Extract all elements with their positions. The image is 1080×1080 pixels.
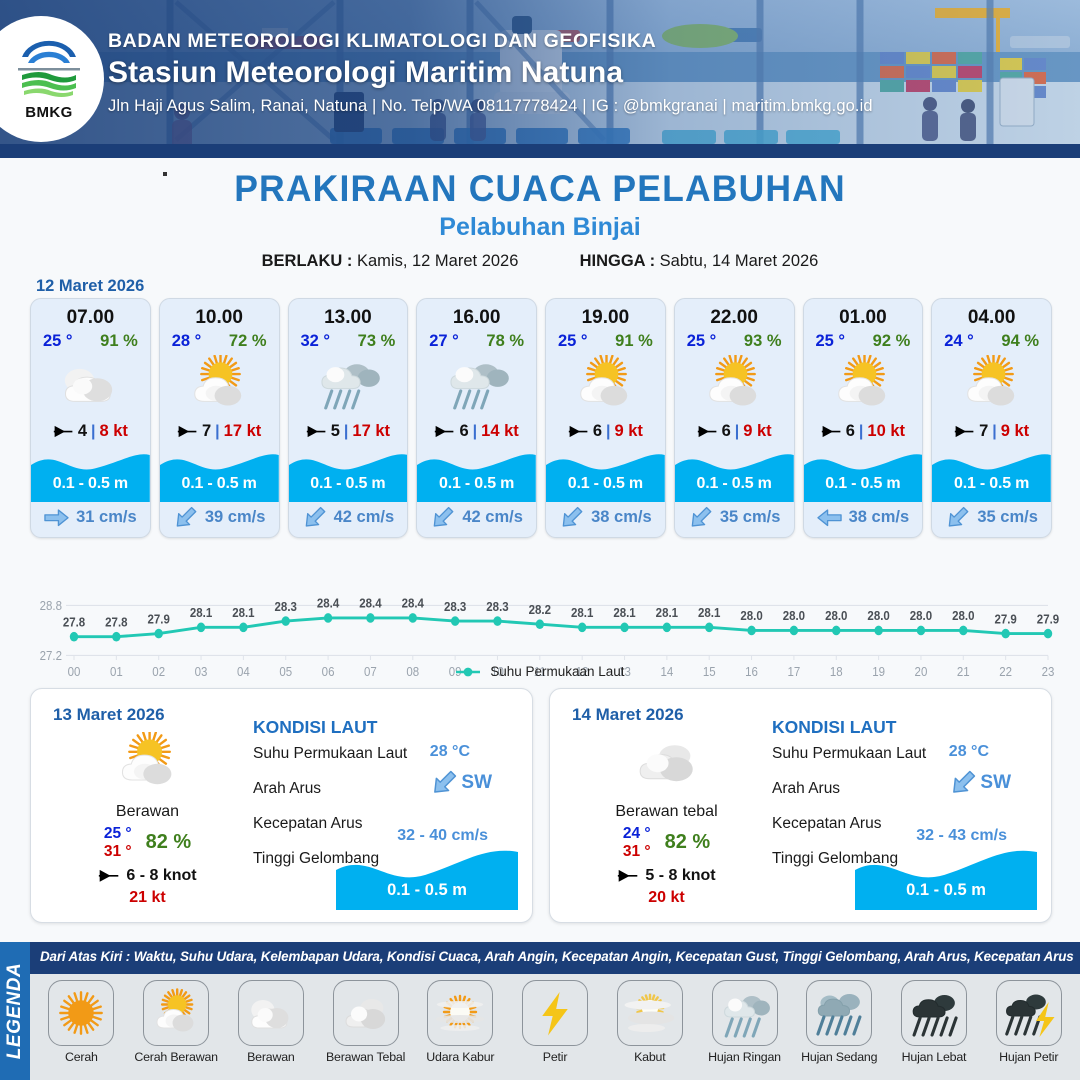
- forecast-card-temp-hum-row: 28 ° 72 %: [160, 329, 279, 351]
- panel-temp-column: 25 ° 31 °: [104, 825, 132, 861]
- panel-condition-text: Berawan: [45, 803, 250, 821]
- legend-item-label: Kabut: [602, 1050, 697, 1064]
- panel-sea-title: KONDISI LAUT: [772, 717, 1041, 738]
- legend-item-icon-box: [901, 980, 967, 1046]
- valid-from-value: Kamis, 12 Maret 2026: [357, 252, 518, 270]
- svg-text:27.9: 27.9: [148, 612, 171, 627]
- forecast-card-wind-speed: 17 kt: [224, 422, 262, 441]
- legend-vertical-label: LEGENDA: [4, 963, 26, 1059]
- legend-side-strip: LEGENDA: [0, 942, 30, 1080]
- panel-left-column: Berawan tebal 24 ° 31 ° 82 % 5 - 8 knot …: [564, 731, 769, 907]
- bmkg-logo-text: BMKG: [25, 104, 72, 121]
- page-title: PRAKIRAAN CUACA PELABUHAN: [22, 168, 1059, 210]
- wind-direction-barb-icon: [98, 869, 120, 883]
- forecast-card-wave-zone: 0.1 - 0.5 m: [932, 446, 1051, 502]
- header-station-name: Stasiun Meteorologi Maritim Natuna: [108, 56, 1048, 90]
- forecast-card-wind-direction: 4: [78, 422, 87, 441]
- svg-text:27.9: 27.9: [994, 612, 1017, 627]
- forecast-card-wind-direction: 6: [722, 422, 731, 441]
- forecast-card-time: 19.00: [546, 299, 665, 329]
- legend-item-icon-box: [333, 980, 399, 1046]
- forecast-card-wind-row: 6 | 9 kt: [546, 416, 665, 446]
- wind-direction-barb-icon: [617, 869, 639, 883]
- svg-text:28.1: 28.1: [571, 605, 594, 620]
- svg-text:28.1: 28.1: [698, 605, 721, 620]
- weather-icon-berawan-tebal: [337, 988, 395, 1038]
- bmkg-logo-icon: [12, 37, 86, 103]
- forecast-card-wind-speed: 10 kt: [867, 422, 905, 441]
- forecast-card-current-speed: 42 cm/s: [462, 508, 523, 527]
- forecast-card-wind-row: 7 | 17 kt: [160, 416, 279, 446]
- svg-text:28.0: 28.0: [783, 609, 806, 624]
- forecast-card-wind-speed: 9 kt: [1001, 422, 1029, 441]
- panel-temp-column: 24 ° 31 °: [623, 825, 651, 861]
- forecast-card-wave-zone: 0.1 - 0.5 m: [546, 446, 665, 502]
- forecast-card-weather-icon: [804, 352, 923, 416]
- panel-wave-svg: [855, 844, 1037, 910]
- forecast-card-wind-separator: |: [473, 423, 477, 441]
- panel-humidity: 82 %: [665, 831, 711, 854]
- forecast-card-wave-height: 0.1 - 0.5 m: [804, 475, 923, 493]
- forecast-card[interactable]: 07.00 25 ° 91 % 4 | 8 kt 0.1 - 0.5 m 31 …: [30, 298, 151, 538]
- forecast-card-time: 07.00: [31, 299, 150, 329]
- weather-icon-udara-kabur: [431, 988, 489, 1038]
- forecast-card-current-speed: 35 cm/s: [720, 508, 781, 527]
- forecast-card-temp-hum-row: 25 ° 91 %: [546, 329, 665, 351]
- forecast-card-wind-speed: 8 kt: [99, 422, 127, 441]
- forecast-card-wind-separator: |: [735, 423, 739, 441]
- forecast-card-time: 22.00: [675, 299, 794, 329]
- legend-item: Udara Kabur: [413, 980, 508, 1064]
- panel-date: 14 Maret 2026: [572, 705, 684, 725]
- forecast-card-wave-height: 0.1 - 0.5 m: [417, 475, 536, 493]
- forecast-card-current-speed: 31 cm/s: [76, 508, 137, 527]
- validity-line: BERLAKU : Kamis, 12 Maret 2026 HINGGA : …: [0, 252, 1080, 271]
- legend-item: Kabut: [602, 980, 697, 1064]
- legend-item: Petir: [508, 980, 603, 1064]
- page-subtitle-port: Pelabuhan Binjai: [0, 213, 1080, 242]
- wind-direction-barb-icon: [434, 425, 455, 438]
- legend-item-label: Berawan: [223, 1050, 318, 1064]
- panel-wave-graphic: 0.1 - 0.5 m: [336, 844, 518, 910]
- wind-direction-barb-icon: [177, 425, 198, 438]
- forecast-card-temperature: 25 °: [687, 332, 717, 351]
- legend-item-label: Hujan Lebat: [887, 1050, 982, 1064]
- forecast-card-wave-height: 0.1 - 0.5 m: [160, 475, 279, 493]
- forecast-card-weather-icon: [31, 352, 150, 416]
- forecast-card-wave-zone: 0.1 - 0.5 m: [160, 446, 279, 502]
- forecast-card[interactable]: 10.00 28 ° 72 % 7 | 17 kt 0.1 - 0.5 m 39…: [159, 298, 280, 538]
- weather-icon-hujan-sedang: [810, 988, 868, 1038]
- legend-item: Berawan: [223, 980, 318, 1064]
- page-header-banner: BMKG BADAN METEOROLOGI KLIMATOLOGI DAN G…: [0, 0, 1080, 158]
- panel-value-current-speed: 32 - 40 cm/s: [397, 827, 488, 845]
- legend-item-label: Petir: [508, 1050, 603, 1064]
- forecast-card-wind-row: 6 | 14 kt: [417, 416, 536, 446]
- forecast-card-humidity: 92 %: [873, 332, 911, 351]
- forecast-card-wave-zone: 0.1 - 0.5 m: [804, 446, 923, 502]
- forecast-card-wind-row: 4 | 8 kt: [31, 416, 150, 446]
- legend-item-icon-box: [48, 980, 114, 1046]
- svg-text:28.3: 28.3: [275, 599, 298, 614]
- legend-item: Hujan Lebat: [887, 980, 982, 1064]
- forecast-card-current-row: 35 cm/s: [932, 502, 1051, 537]
- daily-summary-panels: 13 Maret 2026 Berawan 25 ° 31 ° 82 % 6 -…: [30, 688, 1052, 923]
- forecast-card-weather-icon: [417, 352, 536, 416]
- panel-value-sst: 28 °C: [949, 743, 989, 761]
- wave-height-graphic: [31, 446, 150, 502]
- forecast-card[interactable]: 01.00 25 ° 92 % 6 | 10 kt 0.1 - 0.5 m 38…: [803, 298, 924, 538]
- forecast-card-temperature: 24 °: [944, 332, 974, 351]
- panel-value-current-speed: 32 - 43 cm/s: [916, 827, 1007, 845]
- weather-icon-hujan-lebat: [905, 988, 963, 1038]
- legend-item-icon-box: [996, 980, 1062, 1046]
- forecast-card-wind-speed: 17 kt: [352, 422, 390, 441]
- weather-icon-cerah-berawan: [955, 355, 1029, 413]
- current-direction-arrow-west: [817, 508, 842, 528]
- forecast-card-humidity: 94 %: [1001, 332, 1039, 351]
- svg-text:28.8: 28.8: [40, 598, 63, 613]
- forecast-card[interactable]: 22.00 25 ° 93 % 6 | 9 kt 0.1 - 0.5 m 35 …: [674, 298, 795, 538]
- header-org-line: BADAN METEOROLOGI KLIMATOLOGI DAN GEOFIS…: [108, 30, 1048, 53]
- panel-left-column: Berawan 25 ° 31 ° 82 % 6 - 8 knot 21 kt: [45, 731, 250, 907]
- forecast-card-weather-icon: [289, 352, 408, 416]
- wave-height-graphic: [804, 446, 923, 502]
- forecast-card-time: 04.00: [932, 299, 1051, 329]
- panel-condition-text: Berawan tebal: [564, 803, 769, 821]
- svg-text:28.0: 28.0: [910, 609, 933, 624]
- panel-label-sst: Suhu Permukaan Laut: [772, 745, 1041, 763]
- forecast-card-wind-direction: 6: [459, 422, 468, 441]
- legend-item-label: Hujan Petir: [981, 1050, 1076, 1064]
- valid-until-value: Sabtu, 14 Maret 2026: [660, 252, 819, 270]
- panel-value-sst: 28 °C: [430, 743, 470, 761]
- forecast-card-current-row: 42 cm/s: [417, 502, 536, 537]
- forecast-card-temperature: 28 °: [172, 332, 202, 351]
- panel-current-direction-text: SW: [461, 772, 492, 794]
- weather-icon-cerah-berawan: [826, 355, 900, 413]
- legend-item-icon-box: [143, 980, 209, 1046]
- forecast-card-weather-icon: [160, 352, 279, 416]
- current-direction-arrow-east: [44, 508, 69, 528]
- forecast-card-wave-height: 0.1 - 0.5 m: [932, 475, 1051, 493]
- current-direction-arrow-southwest: [298, 502, 329, 533]
- legend-item-label: Hujan Ringan: [697, 1050, 792, 1064]
- panel-wave-height-value: 0.1 - 0.5 m: [336, 881, 518, 900]
- legend-item-label: Cerah Berawan: [129, 1050, 224, 1064]
- legend-note-text: Dari Atas Kiri : Waktu, Suhu Udara, Kele…: [40, 949, 1074, 964]
- weather-icon-berawan: [53, 355, 127, 413]
- chart-legend: Suhu Permukaan Laut: [18, 664, 1062, 679]
- weather-icon-berawan-tebal: [628, 732, 706, 792]
- forecast-card-current-row: 35 cm/s: [675, 502, 794, 537]
- forecast-card-temperature: 32 °: [301, 332, 331, 351]
- forecast-card-temp-hum-row: 25 ° 91 %: [31, 329, 150, 351]
- forecast-card-wind-separator: |: [992, 423, 996, 441]
- panel-temp-min: 24 °: [623, 825, 651, 842]
- panel-sea-conditions: KONDISI LAUT Suhu Permukaan Laut Arah Ar…: [772, 717, 1041, 914]
- svg-text:28.2: 28.2: [529, 602, 552, 617]
- panel-wind-row: 5 - 8 knot: [564, 867, 769, 885]
- valid-from-label: BERLAKU :: [262, 252, 353, 270]
- forecast-card-wave-height: 0.1 - 0.5 m: [546, 475, 665, 493]
- forecast-card-wave-height: 0.1 - 0.5 m: [289, 475, 408, 493]
- panel-gust-speed: 21 kt: [45, 889, 250, 907]
- panel-label-sst: Suhu Permukaan Laut: [253, 745, 522, 763]
- header-text-block: BADAN METEOROLOGI KLIMATOLOGI DAN GEOFIS…: [108, 30, 1048, 116]
- forecast-card-temp-hum-row: 32 ° 73 %: [289, 329, 408, 351]
- legend-item-icon-box: [522, 980, 588, 1046]
- forecast-card-time: 10.00: [160, 299, 279, 329]
- legend-item-label: Berawan Tebal: [318, 1050, 413, 1064]
- legend-items-row: Cerah Cerah Berawan Berawan Berawan Teba…: [30, 974, 1080, 1080]
- panel-humidity: 82 %: [146, 831, 192, 854]
- legend-item-label: Cerah: [34, 1050, 129, 1064]
- forecast-card-current-speed: 42 cm/s: [334, 508, 395, 527]
- weather-icon-cerah: [52, 988, 110, 1038]
- weather-icon-cerah-berawan: [182, 355, 256, 413]
- panel-temp-humidity-row: 24 ° 31 ° 82 %: [564, 825, 769, 861]
- svg-text:27.8: 27.8: [105, 615, 128, 630]
- legend-item: Hujan Sedang: [792, 980, 887, 1064]
- forecast-card-wind-separator: |: [606, 423, 610, 441]
- sst-chart: 28.827.200010203040506070809101112131415…: [18, 560, 1062, 685]
- legend-item-icon-box: [617, 980, 683, 1046]
- panel-temp-humidity-row: 25 ° 31 ° 82 %: [45, 825, 250, 861]
- title-section: PRAKIRAAN CUACA PELABUHAN Pelabuhan Binj…: [0, 168, 1080, 271]
- valid-until-label: HINGGA :: [580, 252, 655, 270]
- forecast-card-wind-separator: |: [344, 423, 348, 441]
- weather-icon-hujan-ringan: [440, 355, 514, 413]
- forecast-card[interactable]: 16.00 27 ° 78 % 6 | 14 kt 0.1 - 0.5 m 42…: [416, 298, 537, 538]
- weather-icon-kabut: [621, 988, 679, 1038]
- forecast-card-wind-separator: |: [215, 423, 219, 441]
- forecast-card-wind-separator: |: [859, 423, 863, 441]
- forecast-card-current-speed: 38 cm/s: [591, 508, 652, 527]
- forecast-date-label: 12 Maret 2026: [36, 277, 144, 296]
- weather-icon-hujan-petir: [1000, 988, 1058, 1038]
- legend-item-icon-box: [427, 980, 493, 1046]
- forecast-card-current-row: 38 cm/s: [546, 502, 665, 537]
- forecast-card-wind-direction: 7: [202, 422, 211, 441]
- header-contact-line: Jln Haji Agus Salim, Ranai, Natuna | No.…: [108, 97, 1048, 116]
- forecast-card-current-row: 31 cm/s: [31, 502, 150, 537]
- panel-current-direction-text: SW: [980, 772, 1011, 794]
- forecast-card[interactable]: 19.00 25 ° 91 % 6 | 9 kt 0.1 - 0.5 m 38 …: [545, 298, 666, 538]
- panel-weather-icon: [564, 731, 769, 793]
- wind-direction-barb-icon: [306, 425, 327, 438]
- panel-wind-speed: 5 - 8 knot: [645, 867, 715, 885]
- panel-wind-row: 6 - 8 knot: [45, 867, 250, 885]
- daily-forecast-panel[interactable]: 13 Maret 2026 Berawan 25 ° 31 ° 82 % 6 -…: [30, 688, 533, 923]
- forecast-card-wind-direction: 7: [979, 422, 988, 441]
- panel-wave-graphic: 0.1 - 0.5 m: [855, 844, 1037, 910]
- forecast-card-humidity: 91 %: [615, 332, 653, 351]
- svg-text:28.0: 28.0: [740, 609, 763, 624]
- panel-temp-max: 31 °: [623, 843, 651, 860]
- forecast-card-temperature: 27 °: [429, 332, 459, 351]
- wind-direction-barb-icon: [697, 425, 718, 438]
- forecast-card-wind-row: 6 | 10 kt: [804, 416, 923, 446]
- svg-text:28.0: 28.0: [952, 609, 975, 624]
- current-direction-arrow-southwest: [427, 502, 458, 533]
- panel-wind-speed: 6 - 8 knot: [126, 867, 196, 885]
- panel-gust-speed: 20 kt: [564, 889, 769, 907]
- svg-text:28.0: 28.0: [825, 609, 848, 624]
- wind-direction-barb-icon: [53, 425, 74, 438]
- legend-item: Berawan Tebal: [318, 980, 413, 1064]
- forecast-card-wave-zone: 0.1 - 0.5 m: [417, 446, 536, 502]
- panel-temp-min: 25 °: [104, 825, 132, 842]
- forecast-card-wind-speed: 9 kt: [743, 422, 771, 441]
- wave-height-graphic: [160, 446, 279, 502]
- forecast-card-wind-direction: 5: [331, 422, 340, 441]
- legend-item-icon-box: [238, 980, 304, 1046]
- legend-item: Cerah Berawan: [129, 980, 224, 1064]
- daily-forecast-panel[interactable]: 14 Maret 2026 Berawan tebal 24 ° 31 ° 82…: [549, 688, 1052, 923]
- wind-direction-barb-icon: [954, 425, 975, 438]
- forecast-card-wind-separator: |: [91, 423, 95, 441]
- svg-text:28.1: 28.1: [232, 605, 255, 620]
- banner-bottom-bar: [0, 144, 1080, 158]
- svg-text:28.1: 28.1: [656, 605, 679, 620]
- current-direction-arrow-southwest: [556, 502, 587, 533]
- wave-height-graphic: [417, 446, 536, 502]
- forecast-card-humidity: 72 %: [229, 332, 267, 351]
- wave-height-graphic: [289, 446, 408, 502]
- svg-text:28.3: 28.3: [486, 599, 509, 614]
- forecast-card-current-speed: 35 cm/s: [977, 508, 1038, 527]
- forecast-card-temp-hum-row: 25 ° 93 %: [675, 329, 794, 351]
- forecast-card-wind-row: 5 | 17 kt: [289, 416, 408, 446]
- current-direction-arrow-southwest: [685, 502, 716, 533]
- svg-text:28.3: 28.3: [444, 599, 467, 614]
- forecast-card-current-row: 39 cm/s: [160, 502, 279, 537]
- legend-item: Cerah: [34, 980, 129, 1064]
- forecast-card-wave-height: 0.1 - 0.5 m: [31, 475, 150, 493]
- legend-item-label: Hujan Sedang: [792, 1050, 887, 1064]
- panel-temp-max: 31 °: [104, 843, 132, 860]
- panel-date: 13 Maret 2026: [53, 705, 165, 725]
- wind-direction-barb-icon: [568, 425, 589, 438]
- svg-text:28.4: 28.4: [402, 596, 425, 611]
- hourly-forecast-cards: 07.00 25 ° 91 % 4 | 8 kt 0.1 - 0.5 m 31 …: [30, 298, 1052, 538]
- forecast-card-wave-zone: 0.1 - 0.5 m: [31, 446, 150, 502]
- forecast-card-wave-height: 0.1 - 0.5 m: [675, 475, 794, 493]
- legend-item-label: Udara Kabur: [413, 1050, 508, 1064]
- panel-sea-conditions: KONDISI LAUT Suhu Permukaan Laut Arah Ar…: [253, 717, 522, 914]
- panel-value-current-direction: SW: [430, 772, 492, 794]
- weather-icon-hujan-ringan: [716, 988, 774, 1038]
- svg-text:28.4: 28.4: [317, 596, 340, 611]
- legend-item-icon-box: [806, 980, 872, 1046]
- forecast-card-wave-zone: 0.1 - 0.5 m: [675, 446, 794, 502]
- wave-height-graphic: [675, 446, 794, 502]
- forecast-card-wind-speed: 9 kt: [614, 422, 642, 441]
- forecast-card-current-row: 38 cm/s: [804, 502, 923, 537]
- forecast-card-humidity: 93 %: [744, 332, 782, 351]
- panel-wave-svg: [336, 844, 518, 910]
- forecast-card-time: 16.00: [417, 299, 536, 329]
- forecast-card-temperature: 25 °: [43, 332, 73, 351]
- forecast-card-wind-row: 6 | 9 kt: [675, 416, 794, 446]
- svg-text:27.8: 27.8: [63, 615, 86, 630]
- panel-weather-icon: [45, 731, 250, 793]
- weather-icon-hujan-ringan: [311, 355, 385, 413]
- forecast-card-wind-row: 7 | 9 kt: [932, 416, 1051, 446]
- legend-item: Hujan Ringan: [697, 980, 792, 1064]
- forecast-card-current-speed: 39 cm/s: [205, 508, 266, 527]
- legend-section: LEGENDA Dari Atas Kiri : Waktu, Suhu Uda…: [0, 942, 1080, 1080]
- legend-item: Hujan Petir: [981, 980, 1076, 1064]
- svg-text:27.9: 27.9: [1037, 612, 1060, 627]
- panel-wave-height-value: 0.1 - 0.5 m: [855, 881, 1037, 900]
- chart-legend-label: Suhu Permukaan Laut: [490, 664, 624, 679]
- forecast-card-time: 13.00: [289, 299, 408, 329]
- forecast-card-humidity: 78 %: [486, 332, 524, 351]
- forecast-card-weather-icon: [675, 352, 794, 416]
- svg-text:28.0: 28.0: [867, 609, 890, 624]
- forecast-card-humidity: 73 %: [358, 332, 396, 351]
- forecast-card-wind-direction: 6: [593, 422, 602, 441]
- forecast-card-temp-hum-row: 25 ° 92 %: [804, 329, 923, 351]
- forecast-card-wind-speed: 14 kt: [481, 422, 519, 441]
- legend-marker-icon: [455, 666, 481, 678]
- forecast-card-wind-direction: 6: [846, 422, 855, 441]
- forecast-card-temp-hum-row: 27 ° 78 %: [417, 329, 536, 351]
- weather-icon-cerah-berawan: [568, 355, 642, 413]
- wind-direction-barb-icon: [821, 425, 842, 438]
- forecast-card[interactable]: 04.00 24 ° 94 % 7 | 9 kt 0.1 - 0.5 m 35 …: [931, 298, 1052, 538]
- forecast-card-current-speed: 38 cm/s: [849, 508, 910, 527]
- weather-icon-berawan: [242, 988, 300, 1038]
- svg-text:27.2: 27.2: [40, 648, 63, 663]
- weather-icon-cerah-berawan: [109, 732, 187, 792]
- forecast-card-time: 01.00: [804, 299, 923, 329]
- forecast-card-weather-icon: [546, 352, 665, 416]
- forecast-card-current-row: 42 cm/s: [289, 502, 408, 537]
- wave-height-graphic: [932, 446, 1051, 502]
- wave-height-graphic: [546, 446, 665, 502]
- forecast-card-temperature: 25 °: [816, 332, 846, 351]
- current-direction-arrow-southwest: [170, 502, 201, 533]
- svg-text:28.1: 28.1: [190, 605, 213, 620]
- weather-icon-petir: [526, 988, 584, 1038]
- forecast-card[interactable]: 13.00 32 ° 73 % 5 | 17 kt 0.1 - 0.5 m 42…: [288, 298, 409, 538]
- forecast-card-weather-icon: [932, 352, 1051, 416]
- forecast-card-temp-hum-row: 24 ° 94 %: [932, 329, 1051, 351]
- forecast-card-wave-zone: 0.1 - 0.5 m: [289, 446, 408, 502]
- weather-icon-cerah-berawan: [147, 988, 205, 1038]
- panel-sea-title: KONDISI LAUT: [253, 717, 522, 738]
- svg-text:28.4: 28.4: [359, 596, 382, 611]
- weather-icon-cerah-berawan: [697, 355, 771, 413]
- legend-item-icon-box: [712, 980, 778, 1046]
- forecast-card-humidity: 91 %: [100, 332, 138, 351]
- panel-value-current-direction: SW: [949, 772, 1011, 794]
- current-direction-arrow-southwest: [942, 502, 973, 533]
- svg-text:28.1: 28.1: [613, 605, 636, 620]
- forecast-card-temperature: 25 °: [558, 332, 588, 351]
